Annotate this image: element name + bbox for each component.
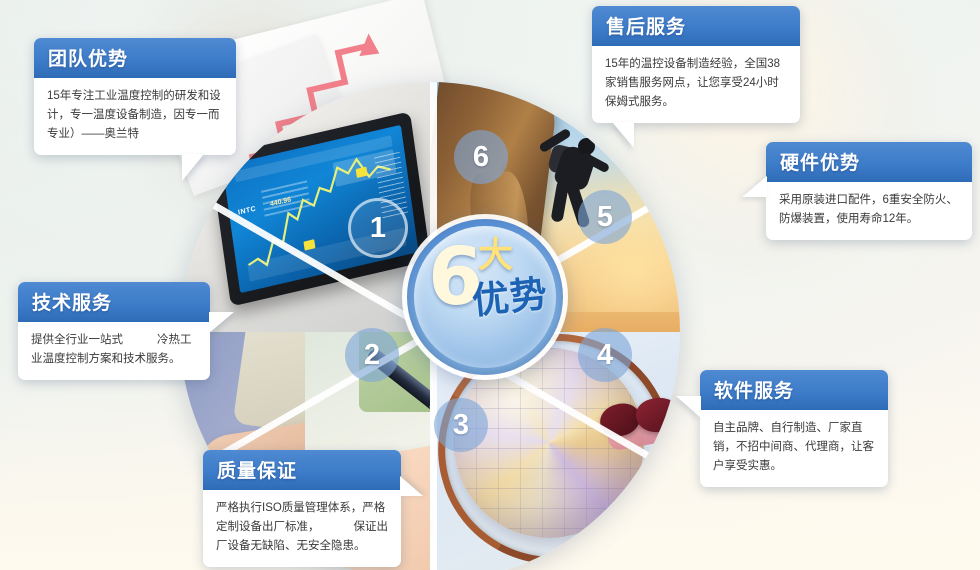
callout-after-sales-title: 售后服务 xyxy=(592,6,800,46)
number-badge-3[interactable]: 3 xyxy=(434,398,488,452)
callout-hardware-body: 采用原装进口配件，6重安全防火、防爆装置，使用寿命12年。 xyxy=(766,182,972,240)
callout-technical-body-part1: 提供全行业一站式 xyxy=(31,334,123,346)
callout-tail xyxy=(400,476,423,496)
callout-technical-title: 技术服务 xyxy=(18,282,210,322)
number-badge-2-label: 2 xyxy=(364,339,380,372)
number-badge-6-label: 6 xyxy=(473,141,489,174)
callout-quality-body: 严格执行ISO质量管理体系，严格定制设备出厂标准，保证出厂设备无缺陷、无安全隐患… xyxy=(203,490,401,567)
number-badge-4-label: 4 xyxy=(597,339,613,372)
callout-tail xyxy=(612,122,634,148)
callout-after-sales-service[interactable]: 售后服务 15年的温控设备制造经验，全国38家销售服务网点，让您享受24小时保姆… xyxy=(592,6,800,123)
callout-team-body: 15年专注工业温度控制的研发和设计，专一温度设备制造，因专一而专业）——奥兰特 xyxy=(34,78,236,155)
center-unit-character: 大 xyxy=(478,238,513,273)
callout-software-body: 自主品牌、自行制造、厂家直销，不招中间商、代理商，让客户享受实惠。 xyxy=(700,410,888,487)
callout-software-service[interactable]: 软件服务 自主品牌、自行制造、厂家直销，不招中间商、代理商，让客户享受实惠。 xyxy=(700,370,888,487)
callout-tail xyxy=(209,312,234,333)
callout-quality-assurance[interactable]: 质量保证 严格执行ISO质量管理体系，严格定制设备出厂标准，保证出厂设备无缺陷、… xyxy=(203,450,401,567)
callout-technical-body: 提供全行业一站式冷热工业温度控制方案和技术服务。 xyxy=(18,322,210,380)
number-badge-3-label: 3 xyxy=(453,409,469,442)
infographic-stage: INTC 440.96 xyxy=(0,0,980,570)
callout-software-title: 软件服务 xyxy=(700,370,888,410)
callout-hardware-title: 硬件优势 xyxy=(766,142,972,182)
callout-team-title: 团队优势 xyxy=(34,38,236,78)
number-badge-4[interactable]: 4 xyxy=(578,328,632,382)
number-badge-2[interactable]: 2 xyxy=(345,328,399,382)
callout-tail xyxy=(742,176,767,197)
number-badge-5-label: 5 xyxy=(597,201,613,234)
callout-after-sales-body: 15年的温控设备制造经验，全国38家销售服务网点，让您享受24小时保姆式服务。 xyxy=(592,46,800,123)
number-badge-6[interactable]: 6 xyxy=(454,130,508,184)
center-advantage-word: 优势 xyxy=(470,274,550,322)
callout-tail xyxy=(676,396,701,418)
callout-technical-service[interactable]: 技术服务 提供全行业一站式冷热工业温度控制方案和技术服务。 xyxy=(18,282,210,380)
callout-hardware-advantage[interactable]: 硬件优势 采用原装进口配件，6重安全防火、防爆装置，使用寿命12年。 xyxy=(766,142,972,240)
number-badge-1-label: 1 xyxy=(370,212,386,245)
wheel-divider xyxy=(430,332,437,570)
number-badge-1[interactable]: 1 xyxy=(348,198,408,258)
callout-team-advantage[interactable]: 团队优势 15年专注工业温度控制的研发和设计，专一温度设备制造，因专一而专业）—… xyxy=(34,38,236,155)
callout-quality-title: 质量保证 xyxy=(203,450,401,490)
callout-tail xyxy=(182,154,204,181)
number-badge-5[interactable]: 5 xyxy=(578,190,632,244)
